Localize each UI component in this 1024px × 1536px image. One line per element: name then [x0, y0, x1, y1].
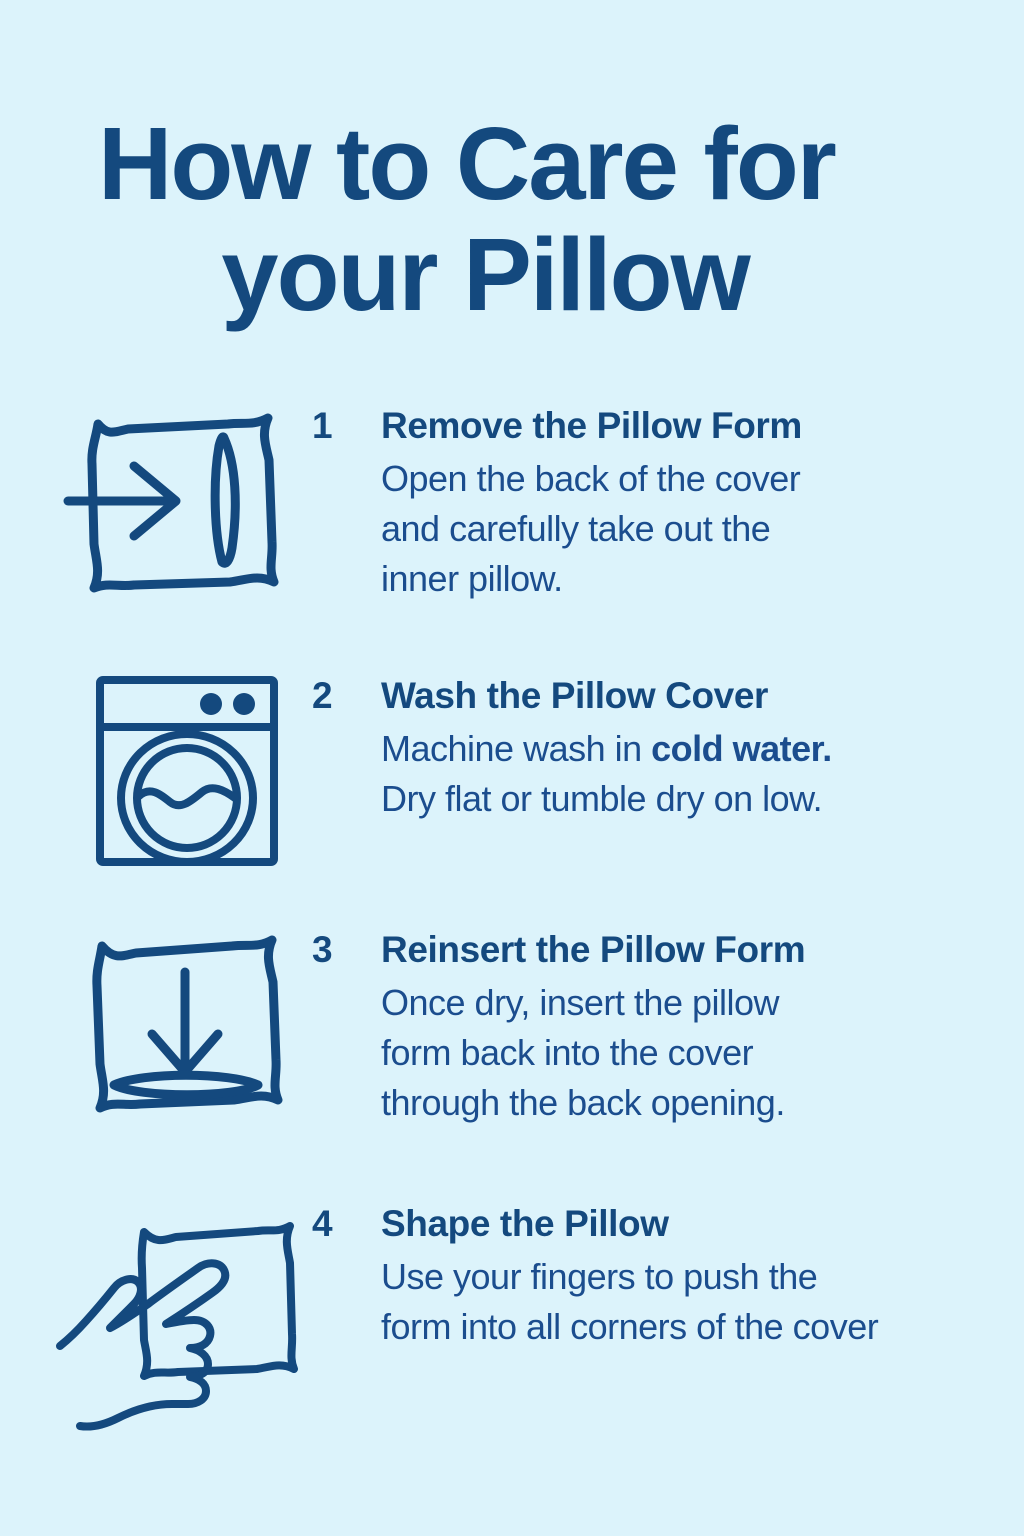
step-item-2: 2 Wash the Pillow Cover Machine wash in …	[0, 672, 1024, 922]
step-number-1: 1	[312, 402, 364, 450]
step-description-line: form back into the cover	[381, 1028, 981, 1078]
step-description-line: Machine wash in cold water.	[381, 724, 981, 774]
step-body-4: Shape the Pillow Use your fingers to pus…	[381, 1200, 981, 1352]
step-number-4: 4	[312, 1200, 364, 1248]
step-description-line: Open the back of the cover	[381, 454, 981, 504]
step-heading-2: Wash the Pillow Cover	[381, 672, 981, 720]
step-heading-4: Shape the Pillow	[381, 1200, 981, 1248]
step-description-line: Once dry, insert the pillow	[381, 978, 981, 1028]
step-description-line: and carefully take out the	[381, 504, 981, 554]
step-number-3: 3	[312, 926, 364, 974]
step-description-line: Use your fingers to push the	[381, 1252, 981, 1302]
step-description-line: inner pillow.	[381, 554, 981, 604]
washing-machine-knob	[200, 693, 222, 715]
page-title: How to Care for your Pillow	[98, 108, 958, 330]
step-body-2: Wash the Pillow Cover Machine wash in co…	[381, 672, 981, 824]
step-description-4: Use your fingers to push the form into a…	[381, 1252, 981, 1352]
step-description-3: Once dry, insert the pillow form back in…	[381, 978, 981, 1128]
emphasis-cold-water: cold water.	[651, 728, 832, 769]
step-item-1: 1 Remove the Pillow Form Open the back o…	[0, 402, 1024, 652]
page-title-line-2: your Pillow	[98, 219, 958, 330]
step-item-3: 3 Reinsert the Pillow Form Once dry, ins…	[0, 926, 1024, 1186]
step-description-2: Machine wash in cold water. Dry flat or …	[381, 724, 981, 824]
step-description-1: Open the back of the cover and carefully…	[381, 454, 981, 604]
page-title-line-1: How to Care for	[98, 108, 958, 219]
step-heading-3: Reinsert the Pillow Form	[381, 926, 981, 974]
hand-shaping-pillow-icon	[52, 1218, 302, 1403]
washing-machine-icon	[92, 672, 282, 870]
step-body-3: Reinsert the Pillow Form Once dry, inser…	[381, 926, 981, 1128]
step-number-2: 2	[312, 672, 364, 720]
step-description-line: Dry flat or tumble dry on low.	[381, 774, 981, 824]
step-description-line: form into all corners of the cover	[381, 1302, 981, 1352]
step-body-1: Remove the Pillow Form Open the back of …	[381, 402, 981, 604]
pillow-with-incoming-arrow-icon	[78, 402, 293, 602]
text-fragment: Machine wash in	[381, 728, 651, 769]
step-item-4: 4 Shape the Pillow Use your fingers to p…	[0, 1200, 1024, 1460]
step-heading-1: Remove the Pillow Form	[381, 402, 981, 450]
washing-machine-knob	[233, 693, 255, 715]
step-description-line: through the back opening.	[381, 1078, 981, 1128]
pillow-with-down-arrow-icon	[86, 928, 286, 1118]
